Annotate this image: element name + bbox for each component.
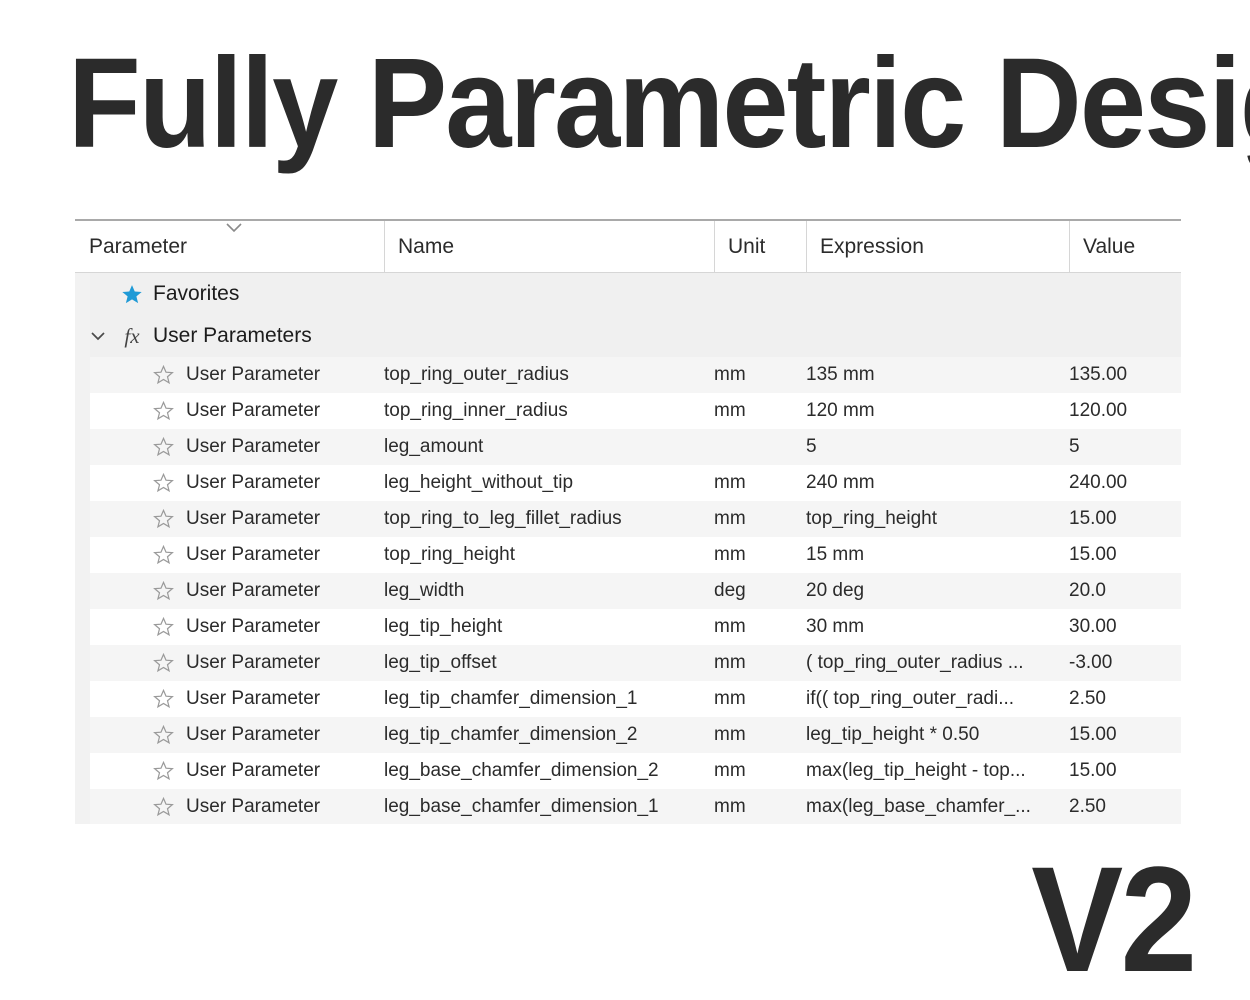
table-row[interactable]: User Parameterleg_tip_chamfer_dimension_… bbox=[75, 681, 1181, 717]
row-name-cell: top_ring_to_leg_fillet_radius bbox=[384, 508, 714, 530]
row-parameter-label: User Parameter bbox=[186, 796, 320, 818]
table-row[interactable]: User Parameterleg_tip_heightmm30 mm30.00 bbox=[75, 609, 1181, 645]
tree-gutter bbox=[75, 273, 90, 824]
table-row[interactable]: User Parametertop_ring_heightmm15 mm15.0… bbox=[75, 537, 1181, 573]
table-row[interactable]: User Parametertop_ring_outer_radiusmm135… bbox=[75, 357, 1181, 393]
row-expression-cell: max(leg_tip_height - top... bbox=[806, 760, 1069, 782]
table-row[interactable]: User Parameterleg_base_chamfer_dimension… bbox=[75, 753, 1181, 789]
row-value-cell: 2.50 bbox=[1069, 796, 1181, 818]
tree-group-label: User Parameters bbox=[153, 324, 312, 348]
star-outline-icon[interactable] bbox=[153, 797, 174, 817]
row-unit-cell: mm bbox=[714, 472, 806, 494]
table-row[interactable]: User Parameterleg_base_chamfer_dimension… bbox=[75, 789, 1181, 824]
row-parameter-label: User Parameter bbox=[186, 364, 320, 386]
row-parameter-cell: User Parameter bbox=[75, 544, 384, 566]
column-header-value[interactable]: Value bbox=[1069, 221, 1181, 273]
row-value-cell: 15.00 bbox=[1069, 724, 1181, 746]
row-parameter-cell: User Parameter bbox=[75, 472, 384, 494]
star-outline-icon[interactable] bbox=[153, 761, 174, 781]
row-value-cell: 120.00 bbox=[1069, 400, 1181, 422]
star-outline-icon[interactable] bbox=[153, 437, 174, 457]
version-badge: V2 bbox=[1031, 844, 1194, 994]
row-parameter-label: User Parameter bbox=[186, 580, 320, 602]
star-outline-icon[interactable] bbox=[153, 617, 174, 637]
table-rows: User Parametertop_ring_outer_radiusmm135… bbox=[75, 357, 1181, 824]
row-expression-cell: 135 mm bbox=[806, 364, 1069, 386]
row-unit-cell: mm bbox=[714, 544, 806, 566]
star-filled-icon bbox=[121, 284, 143, 305]
row-parameter-cell: User Parameter bbox=[75, 400, 384, 422]
table-row[interactable]: User Parameterleg_widthdeg20 deg20.0 bbox=[75, 573, 1181, 609]
row-value-cell: 30.00 bbox=[1069, 616, 1181, 638]
row-value-cell: 15.00 bbox=[1069, 508, 1181, 530]
row-parameter-cell: User Parameter bbox=[75, 436, 384, 458]
row-expression-cell: leg_tip_height * 0.50 bbox=[806, 724, 1069, 746]
star-outline-icon[interactable] bbox=[153, 581, 174, 601]
chevron-down-icon[interactable] bbox=[225, 222, 243, 234]
row-parameter-cell: User Parameter bbox=[75, 652, 384, 674]
row-expression-cell: 15 mm bbox=[806, 544, 1069, 566]
row-unit-cell: mm bbox=[714, 688, 806, 710]
row-name-cell: leg_tip_height bbox=[384, 616, 714, 638]
star-outline-icon[interactable] bbox=[153, 401, 174, 421]
tree-group-favorites[interactable]: Favorites bbox=[75, 273, 1181, 315]
table-row[interactable]: User Parameterleg_amount55 bbox=[75, 429, 1181, 465]
row-parameter-cell: User Parameter bbox=[75, 580, 384, 602]
table-row[interactable]: User Parametertop_ring_to_leg_fillet_rad… bbox=[75, 501, 1181, 537]
row-name-cell: leg_tip_offset bbox=[384, 652, 714, 674]
row-name-cell: leg_height_without_tip bbox=[384, 472, 714, 494]
table-row[interactable]: User Parametertop_ring_inner_radiusmm120… bbox=[75, 393, 1181, 429]
row-parameter-cell: User Parameter bbox=[75, 364, 384, 386]
row-parameter-cell: User Parameter bbox=[75, 796, 384, 818]
table-header-row: Parameter Name Unit Expression Value bbox=[75, 221, 1181, 273]
row-value-cell: 20.0 bbox=[1069, 580, 1181, 602]
star-outline-icon[interactable] bbox=[153, 365, 174, 385]
table-body: Favorites fx User Parameters User Parame… bbox=[75, 273, 1181, 824]
row-parameter-label: User Parameter bbox=[186, 508, 320, 530]
row-parameter-cell: User Parameter bbox=[75, 508, 384, 530]
row-value-cell: -3.00 bbox=[1069, 652, 1181, 674]
row-value-cell: 5 bbox=[1069, 436, 1181, 458]
row-name-cell: leg_width bbox=[384, 580, 714, 602]
table-row[interactable]: User Parameterleg_height_without_tipmm24… bbox=[75, 465, 1181, 501]
row-name-cell: leg_amount bbox=[384, 436, 714, 458]
row-parameter-label: User Parameter bbox=[186, 400, 320, 422]
row-unit-cell: mm bbox=[714, 508, 806, 530]
row-name-cell: top_ring_outer_radius bbox=[384, 364, 714, 386]
row-expression-cell: ( top_ring_outer_radius ... bbox=[806, 652, 1069, 674]
row-expression-cell: 240 mm bbox=[806, 472, 1069, 494]
row-value-cell: 240.00 bbox=[1069, 472, 1181, 494]
row-unit-cell: mm bbox=[714, 652, 806, 674]
row-expression-cell: top_ring_height bbox=[806, 508, 1069, 530]
column-header-unit[interactable]: Unit bbox=[714, 221, 806, 273]
row-parameter-label: User Parameter bbox=[186, 544, 320, 566]
row-name-cell: leg_tip_chamfer_dimension_1 bbox=[384, 688, 714, 710]
row-name-cell: top_ring_inner_radius bbox=[384, 400, 714, 422]
page-title: Fully Parametric Design bbox=[68, 34, 1110, 174]
parameters-panel: Parameter Name Unit Expression Value bbox=[75, 219, 1181, 823]
star-outline-icon[interactable] bbox=[153, 509, 174, 529]
star-outline-icon[interactable] bbox=[153, 725, 174, 745]
row-parameter-label: User Parameter bbox=[186, 760, 320, 782]
column-header-name[interactable]: Name bbox=[384, 221, 714, 273]
row-expression-cell: 120 mm bbox=[806, 400, 1069, 422]
row-expression-cell: max(leg_base_chamfer_... bbox=[806, 796, 1069, 818]
column-header-expression[interactable]: Expression bbox=[806, 221, 1069, 273]
fx-icon: fx bbox=[121, 324, 143, 349]
tree-group-user-parameters[interactable]: fx User Parameters bbox=[75, 315, 1181, 357]
row-unit-cell: mm bbox=[714, 796, 806, 818]
row-unit-cell: deg bbox=[714, 580, 806, 602]
screenshot-root: Fully Parametric Design Parameter Name U… bbox=[0, 0, 1250, 1000]
row-expression-cell: 20 deg bbox=[806, 580, 1069, 602]
row-parameter-cell: User Parameter bbox=[75, 724, 384, 746]
row-expression-cell: 5 bbox=[806, 436, 1069, 458]
row-parameter-cell: User Parameter bbox=[75, 760, 384, 782]
row-parameter-cell: User Parameter bbox=[75, 616, 384, 638]
row-value-cell: 15.00 bbox=[1069, 544, 1181, 566]
row-unit-cell: mm bbox=[714, 400, 806, 422]
row-expression-cell: 30 mm bbox=[806, 616, 1069, 638]
row-name-cell: top_ring_height bbox=[384, 544, 714, 566]
tree-group-label: Favorites bbox=[153, 282, 239, 306]
row-name-cell: leg_base_chamfer_dimension_1 bbox=[384, 796, 714, 818]
chevron-down-icon[interactable] bbox=[89, 327, 107, 345]
row-parameter-label: User Parameter bbox=[186, 472, 320, 494]
star-outline-icon[interactable] bbox=[153, 545, 174, 565]
star-outline-icon[interactable] bbox=[153, 653, 174, 673]
row-name-cell: leg_base_chamfer_dimension_2 bbox=[384, 760, 714, 782]
row-unit-cell: mm bbox=[714, 616, 806, 638]
row-name-cell: leg_tip_chamfer_dimension_2 bbox=[384, 724, 714, 746]
row-parameter-label: User Parameter bbox=[186, 436, 320, 458]
row-value-cell: 15.00 bbox=[1069, 760, 1181, 782]
row-value-cell: 135.00 bbox=[1069, 364, 1181, 386]
row-parameter-label: User Parameter bbox=[186, 652, 320, 674]
star-outline-icon[interactable] bbox=[153, 473, 174, 493]
row-unit-cell: mm bbox=[714, 364, 806, 386]
star-outline-icon[interactable] bbox=[153, 689, 174, 709]
table-row[interactable]: User Parameterleg_tip_chamfer_dimension_… bbox=[75, 717, 1181, 753]
row-parameter-label: User Parameter bbox=[186, 724, 320, 746]
row-unit-cell: mm bbox=[714, 760, 806, 782]
row-value-cell: 2.50 bbox=[1069, 688, 1181, 710]
row-parameter-label: User Parameter bbox=[186, 688, 320, 710]
row-expression-cell: if(( top_ring_outer_radi... bbox=[806, 688, 1069, 710]
row-unit-cell: mm bbox=[714, 724, 806, 746]
table-row[interactable]: User Parameterleg_tip_offsetmm( top_ring… bbox=[75, 645, 1181, 681]
row-parameter-label: User Parameter bbox=[186, 616, 320, 638]
row-parameter-cell: User Parameter bbox=[75, 688, 384, 710]
